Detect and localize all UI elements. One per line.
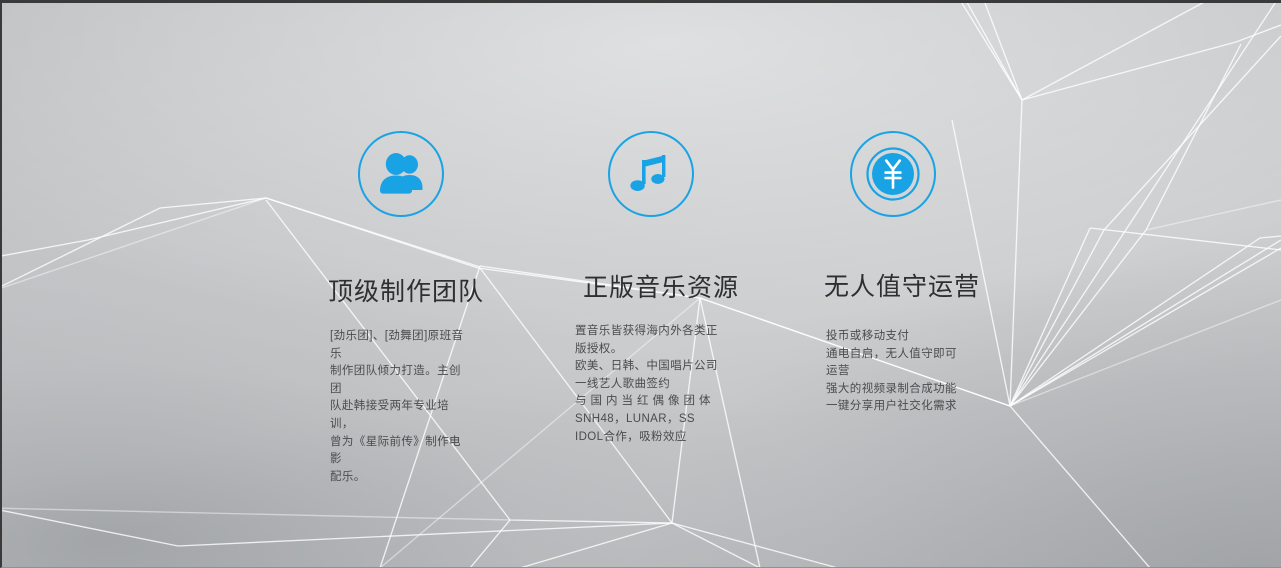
body-line: 置音乐皆获得海内外各类正 <box>575 323 723 341</box>
feature-body-licensed-music-resources: 置音乐皆获得海内外各类正 版授权。 欧美、日韩、中国唱片公司 一线艺人歌曲签约 … <box>575 323 723 446</box>
music-note-icon <box>608 131 694 217</box>
body-line: IDOL合作，吸粉效应 <box>575 429 723 447</box>
slide-canvas: 顶级制作团队 [劲乐团]、[劲舞团]原班音乐 制作团队倾力打造。主创团 队赴韩接… <box>0 0 1281 568</box>
body-line: 制作团队倾力打造。主创团 <box>330 363 472 398</box>
body-line: 通电自启，无人值守即可 <box>826 346 978 364</box>
feature-body-top-production-team: [劲乐团]、[劲舞团]原班音乐 制作团队倾力打造。主创团 队赴韩接受两年专业培训… <box>330 328 472 486</box>
users-icon-glyph <box>376 152 426 196</box>
body-line: 队赴韩接受两年专业培训， <box>330 398 472 433</box>
feature-title-top-production-team: 顶级制作团队 <box>328 278 484 307</box>
music-note-icon-glyph <box>629 151 673 197</box>
body-line: 配乐。 <box>330 469 472 487</box>
body-line: 运营 <box>826 363 978 381</box>
feature-title-unattended-operation: 无人值守运营 <box>824 273 980 302</box>
users-icon <box>358 131 444 217</box>
body-line: 曾为《星际前传》制作电影 <box>330 434 472 469</box>
body-line: [劲乐团]、[劲舞团]原班音乐 <box>330 328 472 363</box>
feature-list: 顶级制作团队 [劲乐团]、[劲舞团]原班音乐 制作团队倾力打造。主创团 队赴韩接… <box>0 0 1281 568</box>
body-line: 一键分享用户社交化需求 <box>826 398 978 416</box>
body-line: 欧美、日韩、中国唱片公司 <box>575 358 723 376</box>
feature-title-licensed-music-resources: 正版音乐资源 <box>583 274 739 303</box>
body-line: 强大的视频录制合成功能 <box>826 381 978 399</box>
body-line: 与 国 内 当 红 偶 像 团 体 <box>575 393 723 411</box>
body-line: 一线艺人歌曲签约 <box>575 376 723 394</box>
yen-coin-icon-glyph <box>863 144 923 204</box>
body-line: 版授权。 <box>575 341 723 359</box>
yen-coin-icon <box>850 131 936 217</box>
body-line: 投币或移动支付 <box>826 328 978 346</box>
body-line: SNH48，LUNAR，SS <box>575 411 723 429</box>
feature-body-unattended-operation: 投币或移动支付 通电自启，无人值守即可 运营 强大的视频录制合成功能 一键分享用… <box>826 328 978 416</box>
